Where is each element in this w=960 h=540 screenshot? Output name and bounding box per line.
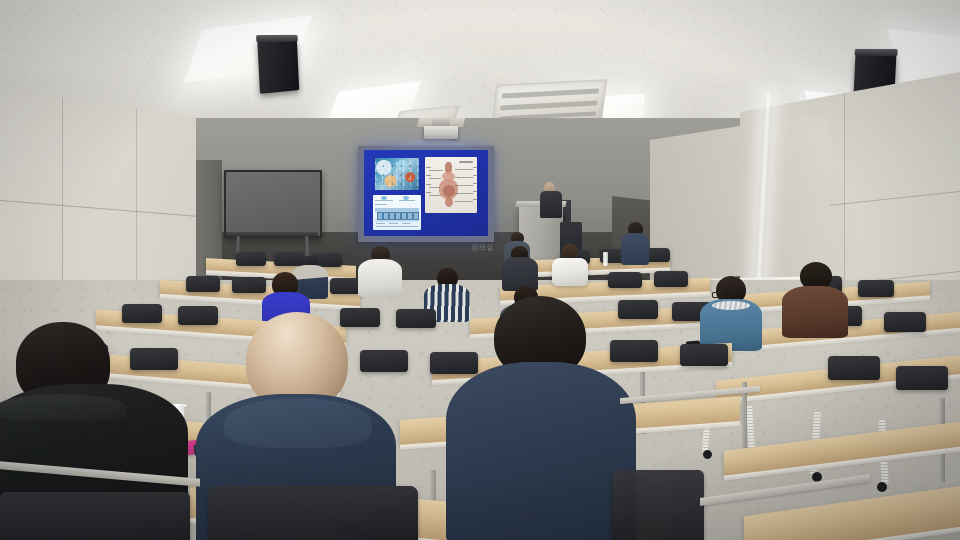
attendee-blue-sweater	[700, 276, 762, 350]
attendee-leather-jacket	[782, 262, 848, 336]
attendee-foreground-navy-right	[446, 296, 636, 540]
chair-near-left[interactable]	[0, 492, 190, 540]
chair-r3-d[interactable]	[396, 309, 436, 328]
slide-photo-topleft	[375, 158, 419, 190]
chair-caster-4	[877, 482, 887, 492]
chair-r2-e[interactable]	[654, 271, 688, 287]
attendee-white-shirt	[358, 246, 402, 296]
whiteboard-tray	[226, 232, 318, 237]
slide-anatomy-diagram	[425, 157, 477, 213]
chair-r3-h[interactable]	[884, 312, 926, 332]
attendee-front-right-body	[621, 233, 649, 265]
slide-chart-bottomleft	[373, 195, 421, 230]
lecture-hall-photo: 回의실	[0, 0, 960, 540]
attendee-white-backpack	[556, 244, 584, 266]
attendee-foreground-navy-right-body	[446, 362, 636, 540]
chair-r4-h[interactable]	[896, 366, 948, 390]
glasses-icon	[712, 292, 721, 298]
chair-r3-a[interactable]	[122, 304, 162, 323]
ceiling-speaker-left	[257, 40, 299, 94]
attendee-white-backpack-head	[562, 244, 578, 258]
whiteboard[interactable]	[224, 170, 322, 238]
water-bottle	[603, 252, 608, 266]
chair-r1-a[interactable]	[236, 252, 266, 266]
presenter	[540, 182, 562, 216]
chair-r2-g[interactable]	[858, 280, 894, 297]
attendee-front-right	[620, 222, 650, 264]
ceiling-projector[interactable]	[424, 126, 458, 139]
chair-r4-g[interactable]	[828, 356, 880, 380]
presenter-body	[540, 191, 562, 218]
attendee-foreground-black-coat-collar	[0, 394, 126, 420]
chair-r2-d[interactable]	[608, 272, 642, 288]
chair-r2-a[interactable]	[186, 276, 220, 292]
chair-r2-b[interactable]	[232, 277, 266, 293]
attendee-foreground-navy-hoodie-hood	[224, 398, 372, 448]
attendee-white-shirt-body	[358, 259, 402, 297]
chair-r4-f[interactable]	[680, 344, 728, 366]
attendee-leather-jacket-body	[782, 286, 848, 338]
presentation-slide	[364, 150, 488, 236]
wall-room-label: 回의실	[472, 243, 493, 253]
attendee-dark-jacket-mid	[502, 246, 538, 290]
chair-near-right[interactable]	[612, 470, 704, 540]
chair-caster-1	[703, 450, 712, 459]
attendee-blue-sweater-collar	[712, 301, 750, 310]
chair-near-center[interactable]	[208, 486, 418, 540]
